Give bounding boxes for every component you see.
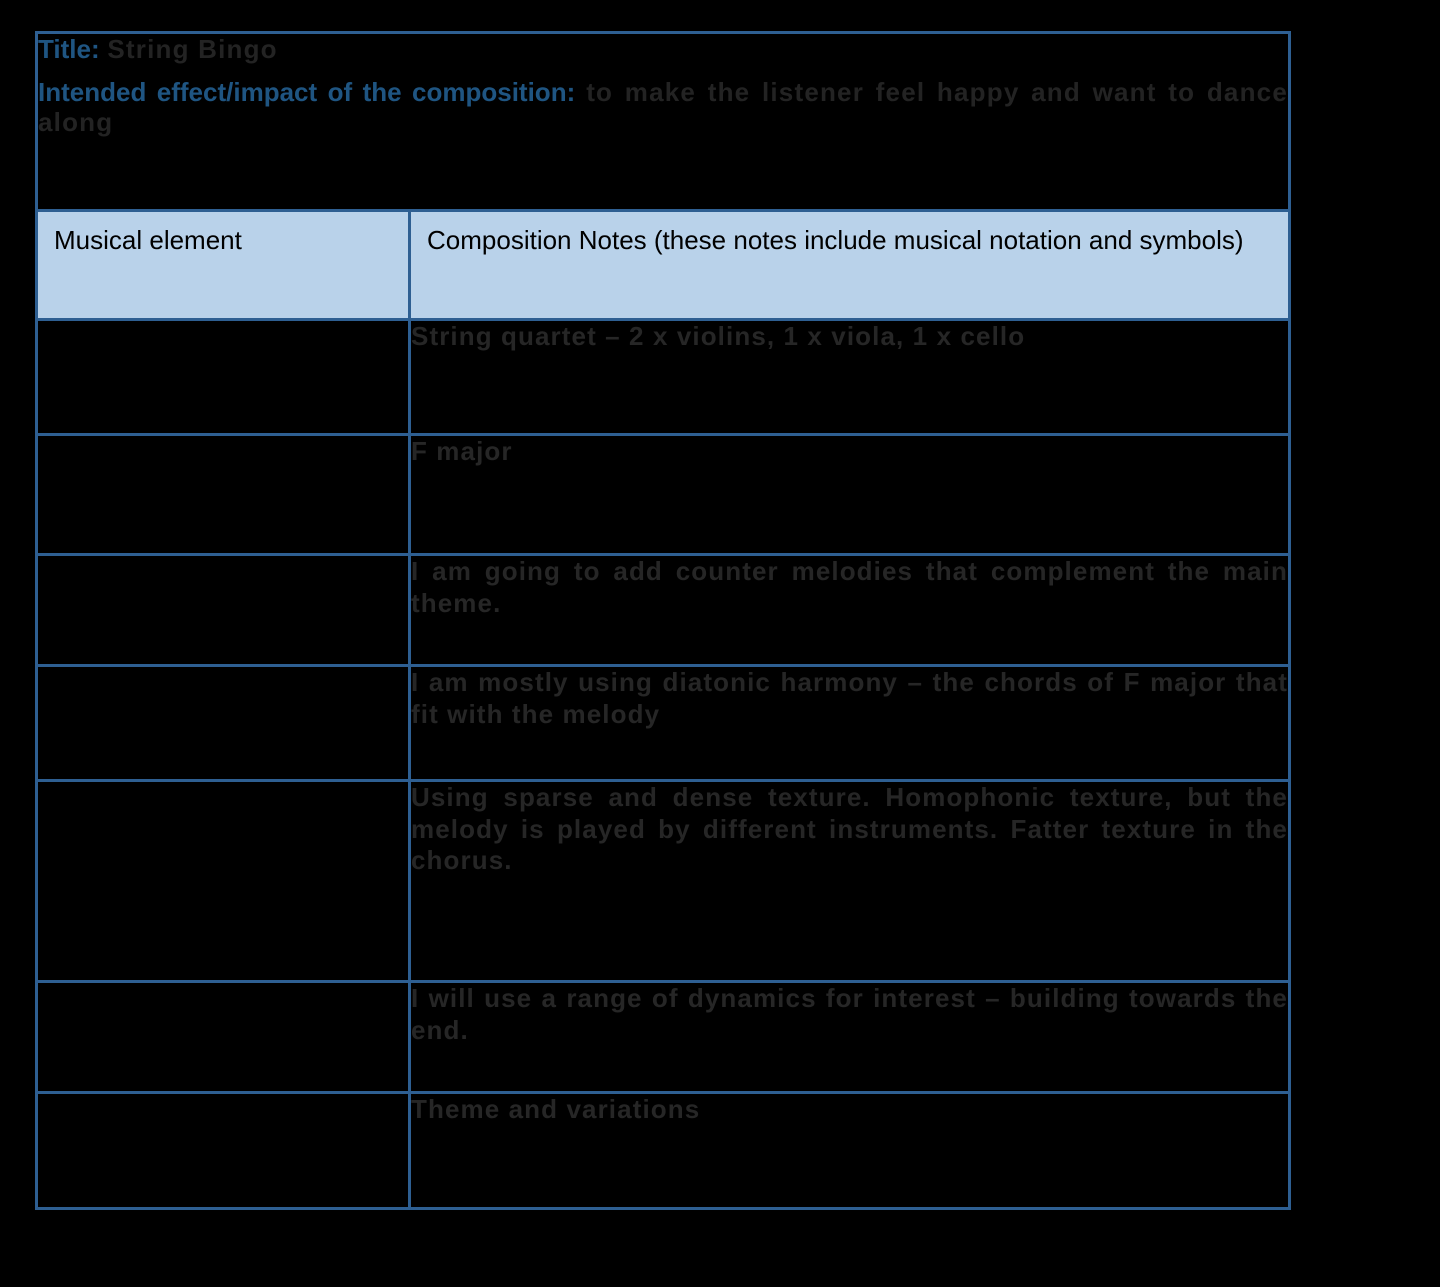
title-label: Title: — [38, 34, 100, 64]
column-header-composition-notes: Composition Notes (these notes include m… — [410, 211, 1290, 320]
composition-planning-table: Title: String Bingo Intended effect/impa… — [35, 31, 1291, 1210]
element-cell[interactable] — [37, 435, 410, 555]
element-cell[interactable] — [37, 555, 410, 666]
table-row: Using sparse and dense texture. Homophon… — [37, 781, 1290, 982]
element-cell[interactable] — [37, 320, 410, 435]
notes-cell[interactable]: I will use a range of dynamics for inter… — [410, 982, 1290, 1093]
table-row: I will use a range of dynamics for inter… — [37, 982, 1290, 1093]
notes-cell[interactable]: Using sparse and dense texture. Homophon… — [410, 781, 1290, 982]
notes-cell[interactable]: Theme and variations — [410, 1093, 1290, 1209]
notes-cell[interactable]: String quartet – 2 x violins, 1 x viola,… — [410, 320, 1290, 435]
element-cell[interactable] — [37, 666, 410, 781]
notes-text: String quartet – 2 x violins, 1 x viola,… — [411, 321, 1288, 353]
notes-cell[interactable]: I am mostly using diatonic harmony – the… — [410, 666, 1290, 781]
intent-label: Intended effect/impact of the compositio… — [38, 77, 575, 107]
title-value: String Bingo — [107, 34, 277, 64]
table-row: String quartet – 2 x violins, 1 x viola,… — [37, 320, 1290, 435]
page-root: Title: String Bingo Intended effect/impa… — [0, 0, 1440, 1287]
title-row: Title: String Bingo Intended effect/impa… — [37, 33, 1290, 211]
table-row: I am going to add counter melodies that … — [37, 555, 1290, 666]
notes-cell[interactable]: I am going to add counter melodies that … — [410, 555, 1290, 666]
element-cell[interactable] — [37, 1093, 410, 1209]
notes-text: I will use a range of dynamics for inter… — [411, 983, 1288, 1046]
table-row: Theme and variations — [37, 1093, 1290, 1209]
column-header-musical-element: Musical element — [37, 211, 410, 320]
notes-text: Using sparse and dense texture. Homophon… — [411, 782, 1288, 877]
intent-line: Intended effect/impact of the compositio… — [38, 77, 1288, 138]
element-cell[interactable] — [37, 781, 410, 982]
notes-cell[interactable]: F major — [410, 435, 1290, 555]
notes-text: Theme and variations — [411, 1094, 1288, 1126]
title-cell: Title: String Bingo Intended effect/impa… — [37, 33, 1290, 211]
column-header-musical-element-label: Musical element — [54, 224, 392, 257]
notes-text: I am going to add counter melodies that … — [411, 556, 1288, 619]
column-header-composition-notes-label: Composition Notes (these notes include m… — [427, 224, 1272, 257]
table-row: I am mostly using diatonic harmony – the… — [37, 666, 1290, 781]
element-cell[interactable] — [37, 982, 410, 1093]
title-line: Title: String Bingo — [38, 34, 1288, 65]
notes-text: F major — [411, 436, 1288, 468]
table-row: F major — [37, 435, 1290, 555]
column-header-row: Musical element Composition Notes (these… — [37, 211, 1290, 320]
notes-text: I am mostly using diatonic harmony – the… — [411, 667, 1288, 730]
